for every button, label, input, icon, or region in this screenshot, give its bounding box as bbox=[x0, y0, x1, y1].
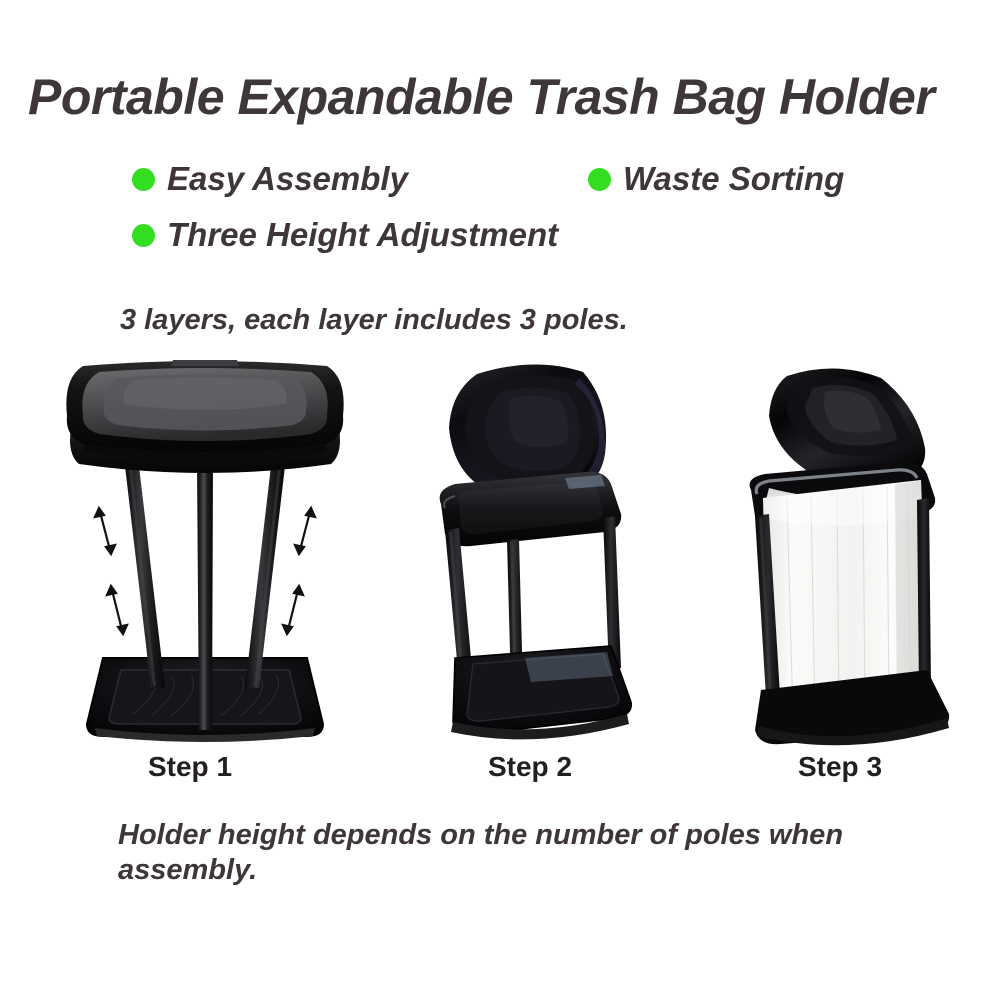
feature-waste-sorting: Waste Sorting bbox=[588, 160, 844, 198]
feature-label: Waste Sorting bbox=[623, 160, 844, 198]
step-1-figure bbox=[55, 358, 355, 748]
layers-caption: 3 layers, each layer includes 3 poles. bbox=[120, 302, 628, 338]
green-dot-icon bbox=[132, 224, 155, 247]
holder-closed-lid-with-height-arrows bbox=[55, 358, 355, 748]
step-1-label: Step 1 bbox=[110, 750, 270, 784]
green-dot-icon bbox=[588, 168, 611, 191]
feature-label: Three Height Adjustment bbox=[167, 216, 558, 254]
step-3-label: Step 3 bbox=[760, 750, 920, 784]
step-3-figure bbox=[735, 358, 990, 748]
product-steps-gallery bbox=[0, 358, 1000, 748]
footer-note: Holder height depends on the number of p… bbox=[118, 818, 918, 888]
step-2-label: Step 2 bbox=[450, 750, 610, 784]
step-2-figure bbox=[415, 358, 680, 748]
frame-rim bbox=[440, 472, 622, 547]
feature-easy-assembly: Easy Assembly bbox=[132, 160, 408, 198]
feature-three-height-adjustment: Three Height Adjustment bbox=[132, 216, 558, 254]
feature-label: Easy Assembly bbox=[167, 160, 408, 198]
closed-lid bbox=[66, 360, 343, 473]
holder-frame-lid-open bbox=[415, 358, 680, 748]
holder-with-white-trash-bag bbox=[735, 358, 990, 748]
base-tray bbox=[451, 646, 631, 739]
green-dot-icon bbox=[132, 168, 155, 191]
page-title: Portable Expandable Trash Bag Holder bbox=[28, 68, 978, 126]
